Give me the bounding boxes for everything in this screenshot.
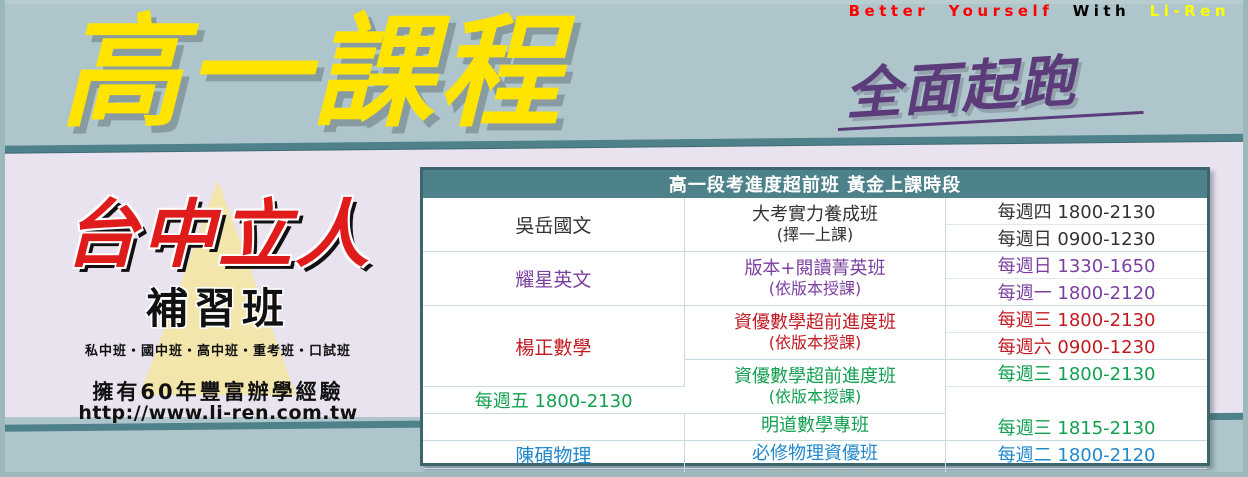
border-right — [1243, 0, 1248, 477]
tagline-word-4: Li-Ren — [1150, 2, 1230, 20]
cell-time: 每週日 0900-1230 — [946, 225, 1207, 252]
cell-time: 每週三 1815-2130 — [946, 414, 1207, 441]
cell-teacher: 楊正數學 — [423, 306, 684, 387]
cell-teacher — [423, 414, 684, 441]
border-left — [0, 0, 5, 477]
cell-course: 大考實力養成班(擇一上課) — [684, 198, 945, 252]
cell-time: 每週六 0900-1230 — [946, 333, 1207, 360]
logo-cram-school-label: 補習班 — [28, 288, 408, 330]
schedule-table-header-row: 高一段考進度超前班 黃金上課時段 — [423, 170, 1207, 198]
cell-time: 每週三 1800-2130 — [946, 306, 1207, 333]
tagline-word-3: With — [1073, 2, 1150, 20]
logo-class-types: 私中班・國中班・高中班・重考班・口試班 — [28, 340, 408, 359]
cell-course: 資優數學超前進度班(依版本授課) — [684, 360, 945, 414]
table-row: 耀星英文版本+閱讀菁英班(依版本授課)每週日 1330-1650 — [423, 252, 1207, 279]
cell-time: 每週一 1800-2120 — [946, 279, 1207, 306]
schedule-table-header: 高一段考進度超前班 黃金上課時段 — [423, 170, 1207, 198]
cell-course-note: (依版本授課) — [685, 388, 945, 406]
cell-time: 每週三 1800-2130 — [946, 360, 1207, 387]
cell-course-note: (依版本授課) — [685, 280, 945, 298]
page-subtitle: 全面起跑 — [843, 54, 1078, 124]
cell-time: 每週五 1800-2130 — [423, 387, 684, 414]
cell-course: 資優數學超前進度班(依版本授課) — [684, 306, 945, 360]
page-title: 高一課程 — [60, 12, 564, 134]
cell-teacher: 陳碩物理 — [423, 440, 684, 468]
cell-course: 版本+閱讀菁英班(依版本授課) — [684, 252, 945, 306]
cell-time: 每週日 1330-1650 — [946, 252, 1207, 279]
table-row: 陳碩物理必修物理資優班每週二 1800-2120 — [423, 440, 1207, 468]
border-bottom — [0, 472, 1248, 477]
cell-time: 每週二 1800-2120 — [946, 440, 1207, 468]
cell-teacher: 耀星英文 — [423, 252, 684, 306]
table-row: 楊正數學資優數學超前進度班(依版本授課)每週三 1800-2130 — [423, 306, 1207, 333]
cell-course: 明道數學專班 — [684, 414, 945, 441]
tagline-word-1: Better — [849, 2, 949, 20]
table-row: 吳岳國文大考實力養成班(擇一上課)每週四 1800-2130 — [423, 198, 1207, 225]
logo-website-url[interactable]: http://www.li-ren.com.tw — [28, 402, 408, 424]
logo: 台中立人 補習班 私中班・國中班・高中班・重考班・口試班 擁有60年豐富辦學經驗… — [20, 170, 410, 420]
poster-canvas: Better Yourself With Li-Ren 高一課程 全面起跑 台中… — [0, 0, 1248, 477]
cell-time: 每週四 1800-2130 — [946, 198, 1207, 225]
schedule-table: 高一段考進度超前班 黃金上課時段 吳岳國文大考實力養成班(擇一上課)每週四 18… — [423, 170, 1207, 477]
cell-teacher: 吳岳國文 — [423, 198, 684, 252]
cell-course-note: (依版本授課) — [685, 334, 945, 352]
cell-course-note: (擇一上課) — [685, 226, 945, 244]
border-top — [0, 0, 1248, 4]
logo-name: 台中立人 — [28, 198, 408, 272]
table-row: 明道數學專班每週三 1815-2130 — [423, 414, 1207, 441]
tagline-word-2: Yourself — [949, 2, 1073, 20]
cell-course: 必修物理資優班 — [684, 440, 945, 468]
schedule-table-container: 高一段考進度超前班 黃金上課時段 吳岳國文大考實力養成班(擇一上課)每週四 18… — [420, 167, 1210, 466]
